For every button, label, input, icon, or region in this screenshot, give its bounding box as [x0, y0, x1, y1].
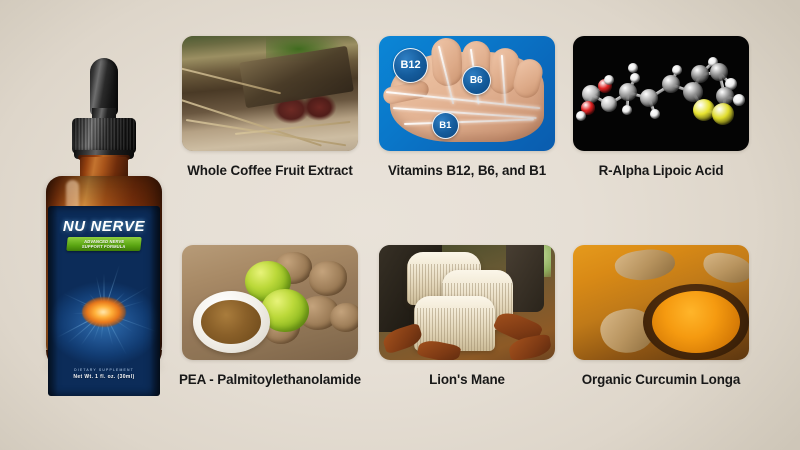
ingredient-image-whole-coffee-fruit-extract: [182, 36, 358, 151]
molecule-atom-c: [710, 63, 728, 81]
bottle-cap: [72, 118, 136, 154]
vitamin-badge-b12: B12: [393, 48, 428, 83]
product-bottle: NU NERVE ADVANCED NERVE SUPPORT FORMULA …: [28, 58, 178, 388]
pea-photo: [182, 245, 358, 360]
ingredient-card-pea-palmitoylethanolamide[interactable]: PEA - Palmitoylethanolamide: [182, 245, 358, 425]
ingredient-card-lions-mane[interactable]: Lion's Mane: [379, 245, 555, 425]
turmeric-photo: [573, 245, 749, 360]
ingredient-card-vitamins-b12-b6-b1[interactable]: B12 B6 B1 Vitamins B12, B6, and B1: [379, 36, 555, 216]
vitamin-badge-b1: B1: [432, 112, 459, 139]
turmeric-root: [701, 250, 749, 286]
molecule-atom-c: [601, 96, 617, 112]
molecule-atom-h: [604, 75, 614, 85]
molecule-atom-c: [619, 83, 637, 101]
ingredient-label-whole-coffee-fruit-extract: Whole Coffee Fruit Extract: [164, 162, 376, 180]
molecule-atom-h: [672, 65, 682, 75]
vitamin-badge-b6: B6: [462, 66, 491, 95]
ingredient-card-whole-coffee-fruit-extract[interactable]: Whole Coffee Fruit Extract: [182, 36, 358, 216]
label-supplement-text: DIETARY SUPPLEMENT: [48, 368, 160, 372]
ingredient-label-organic-curcumin-longa: Organic Curcumin Longa: [555, 371, 767, 389]
ingredient-image-lions-mane: [379, 245, 555, 360]
label-left-shading: [48, 206, 58, 396]
molecule-atom-s: [712, 103, 734, 125]
ingredient-image-vitamins-b12-b6-b1: B12 B6 B1: [379, 36, 555, 151]
molecule-atom-h: [733, 94, 745, 106]
ingredient-label-lions-mane: Lion's Mane: [361, 371, 573, 389]
molecule-atom-h: [628, 63, 638, 73]
molecule-atom-c: [640, 89, 658, 107]
vitamins-hand-photo: B12 B6 B1: [379, 36, 555, 151]
turmeric-root: [613, 246, 676, 284]
ingredient-grid: Whole Coffee Fruit Extract: [168, 30, 788, 420]
molecule-atom-h: [630, 73, 640, 83]
molecule-atom-h: [576, 111, 586, 121]
bottle-shoulder-shading: [46, 176, 162, 210]
molecule-atom-h: [622, 105, 632, 115]
ingredient-card-r-alpha-lipoic-acid[interactable]: R-Alpha Lipoic Acid: [573, 36, 749, 216]
ingredient-image-r-alpha-lipoic-acid: [573, 36, 749, 151]
label-footer: DIETARY SUPPLEMENT Net Wt. 1 fl. oz. (30…: [48, 368, 160, 380]
turmeric-powder: [652, 291, 740, 353]
wood-log: [239, 46, 354, 109]
nutmeg: [330, 303, 358, 333]
label-badge-line-2: SUPPORT FORMULA: [82, 244, 126, 249]
lions-mane-photo: [379, 245, 555, 360]
ingredient-label-vitamins-b12-b6-b1: Vitamins B12, B6, and B1: [361, 162, 573, 180]
ingredient-showcase-slide: NU NERVE ADVANCED NERVE SUPPORT FORMULA …: [0, 0, 800, 450]
ingredient-label-r-alpha-lipoic-acid: R-Alpha Lipoic Acid: [555, 162, 767, 180]
turmeric-slice: [577, 247, 619, 286]
nutmeg: [309, 261, 348, 296]
ingredient-label-pea-palmitoylethanolamide: PEA - Palmitoylethanolamide: [164, 371, 376, 389]
label-right-shading: [150, 206, 160, 396]
bottle-label: NU NERVE ADVANCED NERVE SUPPORT FORMULA …: [48, 206, 160, 396]
brown-powder: [201, 300, 261, 344]
molecule-atom-c: [691, 65, 709, 83]
ingredient-image-pea-palmitoylethanolamide: [182, 245, 358, 360]
label-net-weight: Net Wt. 1 fl. oz. (30ml): [48, 374, 160, 380]
label-formula-badge: ADVANCED NERVE SUPPORT FORMULA: [66, 237, 141, 251]
label-brand-name: NU NERVE: [48, 218, 160, 235]
molecule-photo: [573, 36, 749, 151]
molecule-atom-c: [662, 75, 680, 93]
ingredient-image-organic-curcumin-longa: [573, 245, 749, 360]
neuron-cell-body: [82, 297, 126, 327]
ingredient-card-organic-curcumin-longa[interactable]: Organic Curcumin Longa: [573, 245, 749, 425]
molecule-atom-h: [650, 109, 660, 119]
coffee-fruit-photo: [182, 36, 358, 151]
